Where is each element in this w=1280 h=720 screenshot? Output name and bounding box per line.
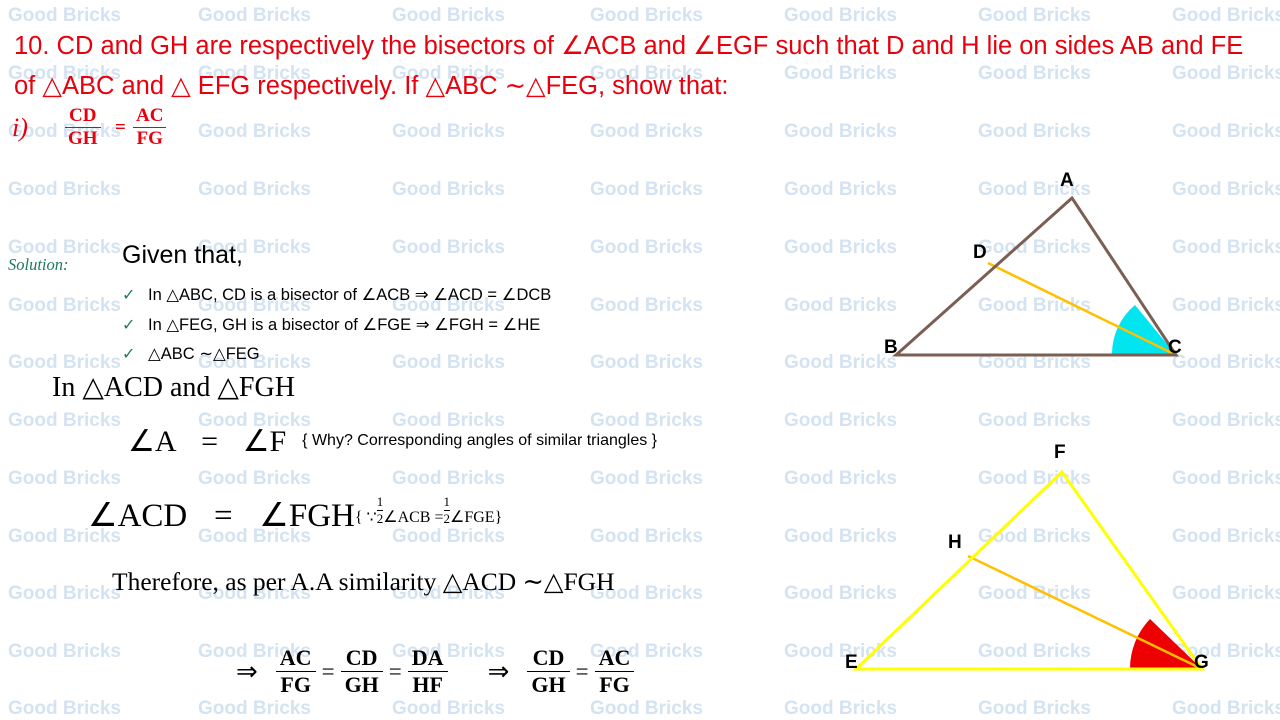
- slide-content: 10. CD and GH are respectively the bisec…: [0, 0, 1280, 720]
- part-ratio-right-den: FG: [133, 127, 166, 150]
- implies-arrow-2: ⇒: [488, 657, 510, 687]
- reason-fraction-2-num: 1: [444, 494, 451, 510]
- reason-suffix: ∠FGE}: [450, 509, 502, 526]
- angle-f-label: ∠F: [243, 425, 287, 458]
- given-heading: Given that,: [122, 241, 243, 270]
- reason-prefix: { ∵: [355, 509, 377, 526]
- equals-sign: =: [322, 659, 335, 685]
- fraction-num: CD: [527, 645, 569, 671]
- triangle-abc-figure: A B C D: [840, 170, 1270, 375]
- equals-sign: =: [576, 659, 589, 685]
- fraction-den: FG: [276, 671, 316, 698]
- vertex-label-d: D: [973, 242, 987, 264]
- part-ratio-right: AC FG: [133, 105, 166, 150]
- reason-text-1: { Why? Corresponding angles of similar t…: [302, 432, 657, 449]
- check-icon: ✓: [122, 341, 148, 370]
- fraction-num: AC: [276, 645, 316, 671]
- final-fraction-da-hf: DA HF: [408, 645, 448, 698]
- angle-arc-c: [1112, 305, 1176, 355]
- list-item-label: △ABC ∼△FEG: [148, 345, 260, 363]
- reason-mid: ∠ACB =: [383, 509, 443, 526]
- fraction-den: GH: [341, 671, 383, 698]
- reason-text-2: { ∵12∠ACB =12∠FGE}: [355, 509, 502, 526]
- implies-arrow-1: ⇒: [236, 657, 258, 687]
- vertex-label-b: B: [884, 337, 898, 359]
- triangle-feg-svg: [820, 430, 1270, 690]
- final-ratio-row: ⇒ AC FG = CD GH = DA HF ⇒ CD GH =: [236, 645, 640, 698]
- fraction-num: AC: [595, 645, 635, 671]
- equals-sign: =: [177, 425, 243, 459]
- in-triangles-line: In △ACD and △FGH: [52, 370, 295, 404]
- fraction-den: FG: [595, 671, 635, 698]
- vertex-label-g: G: [1194, 652, 1209, 674]
- equals-sign: =: [389, 659, 402, 685]
- equals-sign: =: [187, 498, 259, 535]
- triangle-abc-svg: [840, 170, 1270, 375]
- fraction-num: DA: [408, 645, 448, 671]
- fraction-den: GH: [527, 671, 569, 698]
- question-text: 10. CD and GH are respectively the bisec…: [14, 26, 1269, 106]
- question-part-label: i): [12, 113, 28, 143]
- list-item-label: In △FEG, GH is a bisector of ∠FGE ⇒ ∠FGH…: [148, 316, 540, 334]
- list-item: ✓In △FEG, GH is a bisector of ∠FGE ⇒ ∠FG…: [122, 311, 551, 341]
- final-fraction-cd-gh: CD GH: [341, 645, 383, 698]
- conclusion-line: Therefore, as per A.A similarity △ACD ∼△…: [112, 567, 615, 597]
- angle-fgh-label: ∠FGH: [259, 498, 355, 534]
- list-item: ✓In △ABC, CD is a bisector of ∠ACB ⇒ ∠AC…: [122, 281, 551, 311]
- angle-equality-line-1: ∠A=∠F{ Why? Corresponding angles of simi…: [128, 424, 657, 459]
- vertex-label-e: E: [845, 652, 858, 674]
- slide-page: Good BricksGood BricksGood BricksGood Br…: [0, 0, 1280, 720]
- fraction-num: CD: [341, 645, 383, 671]
- angle-a-label: ∠A: [128, 425, 177, 458]
- bisector-gh: [968, 556, 1202, 669]
- final-fraction-cd-gh-2: CD GH: [527, 645, 569, 698]
- vertex-label-h: H: [948, 532, 962, 554]
- given-bullet-list: ✓In △ABC, CD is a bisector of ∠ACB ⇒ ∠AC…: [122, 281, 551, 370]
- angle-equality-line-2: ∠ACD=∠FGH{ ∵12∠ACB =12∠FGE}: [88, 494, 502, 535]
- part-ratio-left: CD GH: [65, 105, 101, 150]
- vertex-label-a: A: [1060, 170, 1074, 192]
- list-item-label: In △ABC, CD is a bisector of ∠ACB ⇒ ∠ACD…: [148, 286, 551, 304]
- fraction-den: HF: [408, 671, 448, 698]
- solution-label: Solution:: [8, 255, 69, 275]
- reason-fraction-1-num: 1: [377, 494, 384, 510]
- part-ratio-equals: =: [115, 117, 126, 139]
- angle-acd-label: ∠ACD: [88, 498, 187, 534]
- part-ratio-right-num: AC: [133, 105, 166, 127]
- angle-arc-g: [1130, 619, 1202, 669]
- triangle-feg-figure: F E G H: [820, 430, 1270, 690]
- check-icon: ✓: [122, 282, 148, 311]
- part-ratio-left-num: CD: [65, 105, 101, 127]
- final-fraction-ac-fg: AC FG: [276, 645, 316, 698]
- bisector-cd: [988, 263, 1176, 355]
- list-item: ✓△ABC ∼△FEG: [122, 340, 551, 370]
- part-ratio-left-den: GH: [65, 127, 101, 150]
- check-icon: ✓: [122, 312, 148, 341]
- vertex-label-f: F: [1054, 442, 1066, 464]
- final-fraction-ac-fg-2: AC FG: [595, 645, 635, 698]
- vertex-label-c: C: [1168, 337, 1182, 359]
